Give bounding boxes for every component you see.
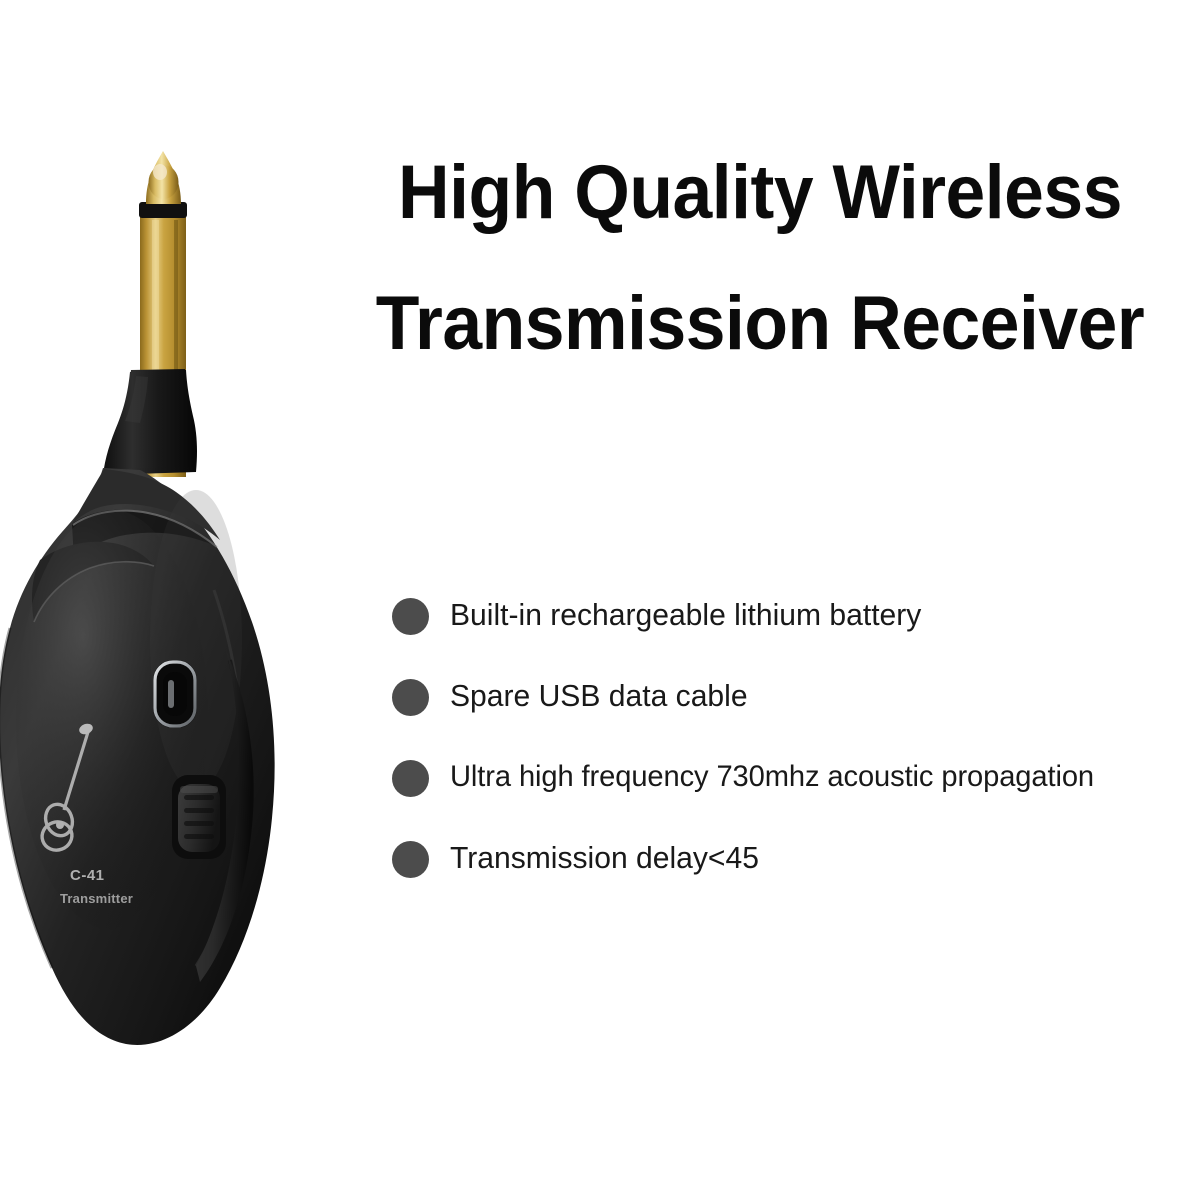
- feature-list: Built-in rechargeable lithium battery Sp…: [392, 596, 1198, 920]
- micro-usb-port: [153, 660, 197, 728]
- list-item: Built-in rechargeable lithium battery: [392, 596, 1198, 677]
- plug-insulator-ring: [139, 202, 187, 218]
- feature-text: Spare USB data cable: [450, 677, 1176, 715]
- product-model-label: C-41: [70, 867, 105, 884]
- list-item: Transmission delay<45: [392, 839, 1198, 920]
- headline: High Quality Wireless Transmission Recei…: [330, 128, 1190, 389]
- headline-line-1: High Quality Wireless: [356, 128, 1164, 259]
- bullet-dot-icon: [392, 598, 429, 635]
- headline-line-2: Transmission Receiver: [356, 259, 1164, 390]
- poster-canvas: C-41 Transmitter High Quality Wireless T…: [0, 0, 1200, 1200]
- list-item: Ultra high frequency 730mhz acoustic pro…: [392, 758, 1198, 839]
- product-photo: C-41 Transmitter: [0, 120, 330, 1060]
- bullet-dot-icon: [392, 679, 429, 716]
- list-item: Spare USB data cable: [392, 677, 1198, 758]
- feature-text: Transmission delay<45: [450, 839, 1176, 877]
- feature-text: Built-in rechargeable lithium battery: [450, 596, 1176, 634]
- power-slider-switch: [172, 775, 226, 859]
- bullet-dot-icon: [392, 760, 429, 797]
- switch-knob: [178, 784, 220, 852]
- product-type-label: Transmitter: [60, 891, 133, 906]
- bullet-dot-icon: [392, 841, 429, 878]
- feature-text: Ultra high frequency 730mhz acoustic pro…: [450, 758, 1176, 796]
